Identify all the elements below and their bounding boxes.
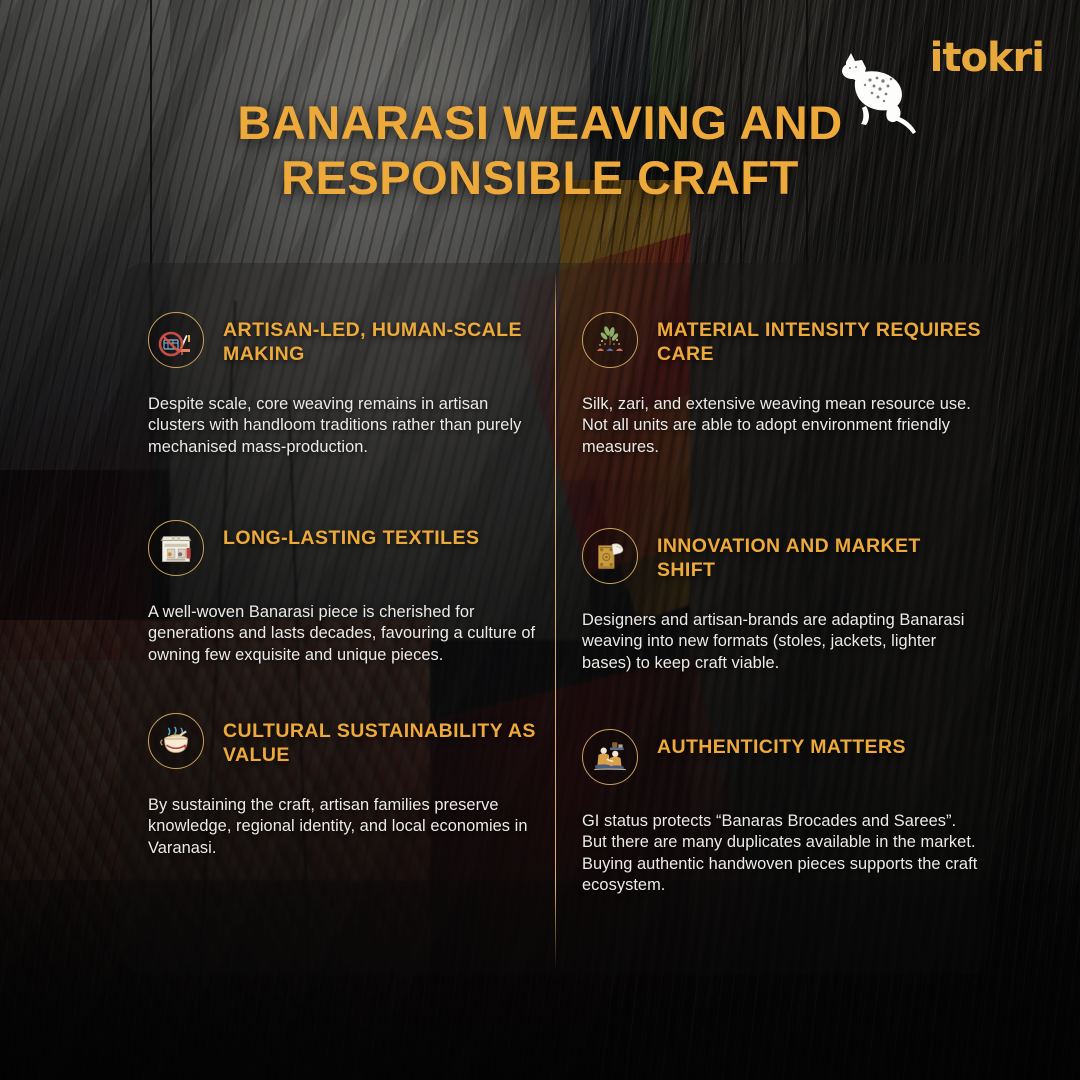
card-long-lasting-textiles: LONG-LASTING TEXTILES A well-woven Banar… xyxy=(148,520,548,666)
card-authenticity-matters: AUTHENTICITY MATTERS GI status protects … xyxy=(582,729,982,896)
card-header: INNOVATION AND MARKET SHIFT xyxy=(582,528,982,584)
page-title-line-1: BANARASI WEAVING AND xyxy=(237,96,842,149)
two-artisans-weaving-icon xyxy=(582,729,638,785)
card-title: MATERIAL INTENSITY REQUIRES CARE xyxy=(657,312,982,367)
natural-dye-leaves-icon xyxy=(582,312,638,368)
header: itokri BANARASI WEAVING AND RESPONSIBLE … xyxy=(0,0,1080,230)
right-column: MATERIAL INTENSITY REQUIRES CARE Silk, z… xyxy=(582,312,982,896)
craft-shop-storefront-icon xyxy=(148,520,204,576)
no-machine-loom-icon xyxy=(148,312,204,368)
brand-logo-itokri[interactable]: itokri xyxy=(930,38,1044,78)
card-header: AUTHENTICITY MATTERS xyxy=(582,729,982,785)
card-body: Silk, zari, and extensive weaving mean r… xyxy=(582,394,982,458)
card-title: ARTISAN-LED, HUMAN-SCALE MAKING xyxy=(223,312,548,367)
card-body: A well-woven Banarasi piece is cherished… xyxy=(148,602,548,666)
card-material-intensity-requires-care: MATERIAL INTENSITY REQUIRES CARE Silk, z… xyxy=(582,312,982,458)
card-body: GI status protects “Banaras Brocades and… xyxy=(582,811,982,896)
card-title: AUTHENTICITY MATTERS xyxy=(657,729,906,760)
card-innovation-and-market-shift: INNOVATION AND MARKET SHIFT Designers an… xyxy=(582,528,982,674)
card-body: Despite scale, core weaving remains in a… xyxy=(148,394,548,458)
card-header: ARTISAN-LED, HUMAN-SCALE MAKING xyxy=(148,312,548,368)
card-body: By sustaining the craft, artisan familie… xyxy=(148,795,548,859)
column-divider xyxy=(555,270,556,970)
card-body: Designers and artisan-brands are adaptin… xyxy=(582,610,982,674)
card-header: MATERIAL INTENSITY REQUIRES CARE xyxy=(582,312,982,368)
hand-holding-fabric-swatch-icon xyxy=(582,528,638,584)
left-column: ARTISAN-LED, HUMAN-SCALE MAKING Despite … xyxy=(148,312,548,859)
card-artisan-led-human-scale-making: ARTISAN-LED, HUMAN-SCALE MAKING Despite … xyxy=(148,312,548,458)
card-header: CULTURAL SUSTAINABILITY AS VALUE xyxy=(148,713,548,769)
card-cultural-sustainability-as-value: CULTURAL SUSTAINABILITY AS VALUE By sust… xyxy=(148,713,548,859)
steaming-dye-pot-icon xyxy=(148,713,204,769)
page-title-line-2: RESPONSIBLE CRAFT xyxy=(0,151,1080,206)
card-title: CULTURAL SUSTAINABILITY AS VALUE xyxy=(223,713,548,768)
card-header: LONG-LASTING TEXTILES xyxy=(148,520,548,576)
page-title: BANARASI WEAVING AND RESPONSIBLE CRAFT xyxy=(0,96,1080,206)
card-title: INNOVATION AND MARKET SHIFT xyxy=(657,528,982,583)
card-title: LONG-LASTING TEXTILES xyxy=(223,520,479,551)
